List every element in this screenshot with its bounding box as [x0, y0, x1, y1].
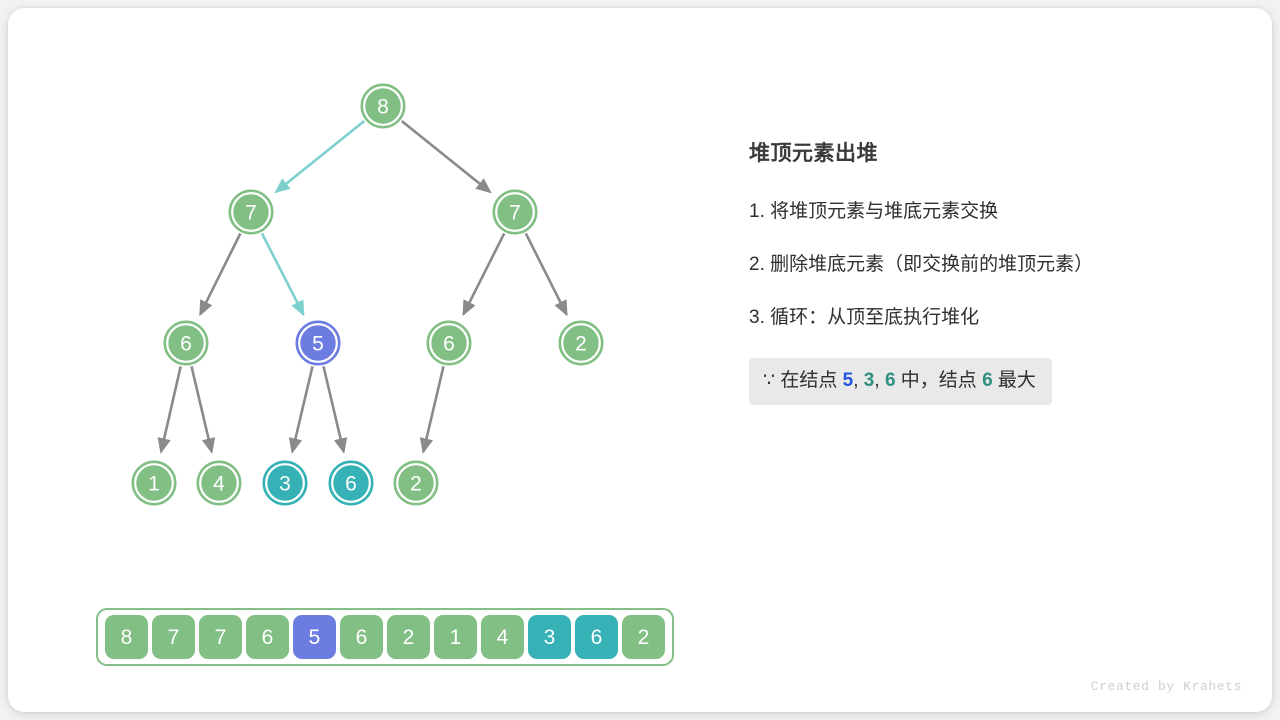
tree-node-label: 6 — [443, 333, 455, 356]
tree-node-label: 5 — [312, 333, 324, 356]
explanation-panel: 堆顶元素出堆 1. 将堆顶元素与堆底元素交换 2. 删除堆底元素（即交换前的堆顶… — [749, 141, 1229, 405]
tree-node[interactable]: 6 — [427, 321, 471, 365]
tree-node-label: 2 — [410, 473, 422, 496]
array-cell-label: 6 — [356, 627, 368, 648]
tree-edges — [161, 121, 566, 452]
tree-nodes: 877656214362 — [132, 84, 603, 505]
tree-edge — [463, 233, 504, 314]
tree-node-label: 6 — [180, 333, 192, 356]
array-cell-label: 6 — [591, 627, 603, 648]
step-item-2: 2. 删除堆底元素（即交换前的堆顶元素） — [749, 253, 1229, 278]
tree-node[interactable]: 4 — [197, 461, 241, 505]
tree-edge — [402, 121, 490, 192]
array-cell[interactable]: 2 — [387, 615, 430, 659]
note-value-6-b: 6 — [982, 370, 993, 391]
array-cell[interactable]: 6 — [575, 615, 618, 659]
note-value-5: 5 — [843, 370, 854, 391]
tree-node[interactable]: 1 — [132, 461, 176, 505]
array-cell[interactable]: 5 — [293, 615, 336, 659]
step-item-1: 1. 将堆顶元素与堆底元素交换 — [749, 200, 1229, 225]
note-prefix: ∵ 在结点 — [763, 370, 843, 391]
array-cell-label: 6 — [262, 627, 274, 648]
credit-footer: Created by Krahets — [1091, 679, 1242, 694]
tree-node[interactable]: 8 — [361, 84, 405, 128]
array-cell[interactable]: 4 — [481, 615, 524, 659]
array-cell[interactable]: 8 — [105, 615, 148, 659]
tree-edge — [161, 366, 181, 451]
heap-tree-diagram: 877656214362 — [8, 8, 708, 568]
tree-edge — [292, 366, 312, 451]
tree-node[interactable]: 7 — [229, 190, 273, 234]
tree-node[interactable]: 2 — [559, 321, 603, 365]
tree-node-label: 3 — [279, 473, 291, 496]
tree-edge — [192, 366, 212, 451]
tree-edge-highlighted — [276, 121, 364, 192]
tree-edge — [526, 233, 567, 314]
heap-array: 877656214362 — [96, 608, 674, 666]
diagram-card: 877656214362 877656214362 堆顶元素出堆 1. 将堆顶元… — [8, 8, 1272, 712]
tree-node-label: 8 — [377, 96, 389, 119]
tree-node[interactable]: 3 — [263, 461, 307, 505]
tree-node-label: 2 — [575, 333, 587, 356]
array-cell[interactable]: 2 — [622, 615, 665, 659]
array-cell-label: 7 — [168, 627, 180, 648]
tree-node-label: 7 — [245, 202, 257, 225]
array-cell[interactable]: 1 — [434, 615, 477, 659]
tree-node[interactable]: 7 — [493, 190, 537, 234]
array-cell[interactable]: 6 — [246, 615, 289, 659]
array-cell-label: 7 — [215, 627, 227, 648]
array-cell[interactable]: 7 — [152, 615, 195, 659]
note-callout: ∵ 在结点 5, 3, 6 中，结点 6 最大 — [749, 358, 1052, 405]
array-cell-label: 5 — [309, 627, 321, 648]
tree-node-label: 6 — [345, 473, 357, 496]
tree-edge — [423, 366, 443, 451]
tree-node-label: 1 — [148, 473, 160, 496]
tree-node[interactable]: 6 — [329, 461, 373, 505]
tree-node[interactable]: 5 — [296, 321, 340, 365]
tree-node-label: 4 — [213, 473, 225, 496]
array-cell-label: 1 — [450, 627, 462, 648]
page-title: 堆顶元素出堆 — [749, 141, 1229, 166]
note-value-3: 3 — [864, 370, 875, 391]
tree-node-label: 7 — [509, 202, 521, 225]
tree-node[interactable]: 6 — [164, 321, 208, 365]
array-cell[interactable]: 7 — [199, 615, 242, 659]
tree-edge-highlighted — [262, 233, 304, 314]
array-cell-label: 2 — [403, 627, 415, 648]
step-item-3: 3. 循环：从顶至底执行堆化 — [749, 306, 1229, 331]
array-cell[interactable]: 6 — [340, 615, 383, 659]
tree-node[interactable]: 2 — [394, 461, 438, 505]
tree-edge — [324, 366, 344, 451]
note-sep-1: , — [853, 370, 864, 391]
array-cell-label: 3 — [544, 627, 556, 648]
array-cell-label: 2 — [638, 627, 650, 648]
array-cell[interactable]: 3 — [528, 615, 571, 659]
note-suffix: 最大 — [993, 370, 1036, 391]
note-sep-2: , — [874, 370, 885, 391]
note-mid: 中，结点 — [896, 370, 983, 391]
array-cell-label: 4 — [497, 627, 509, 648]
array-cell-label: 8 — [121, 627, 133, 648]
tree-edge — [200, 233, 240, 314]
note-value-6-a: 6 — [885, 370, 896, 391]
